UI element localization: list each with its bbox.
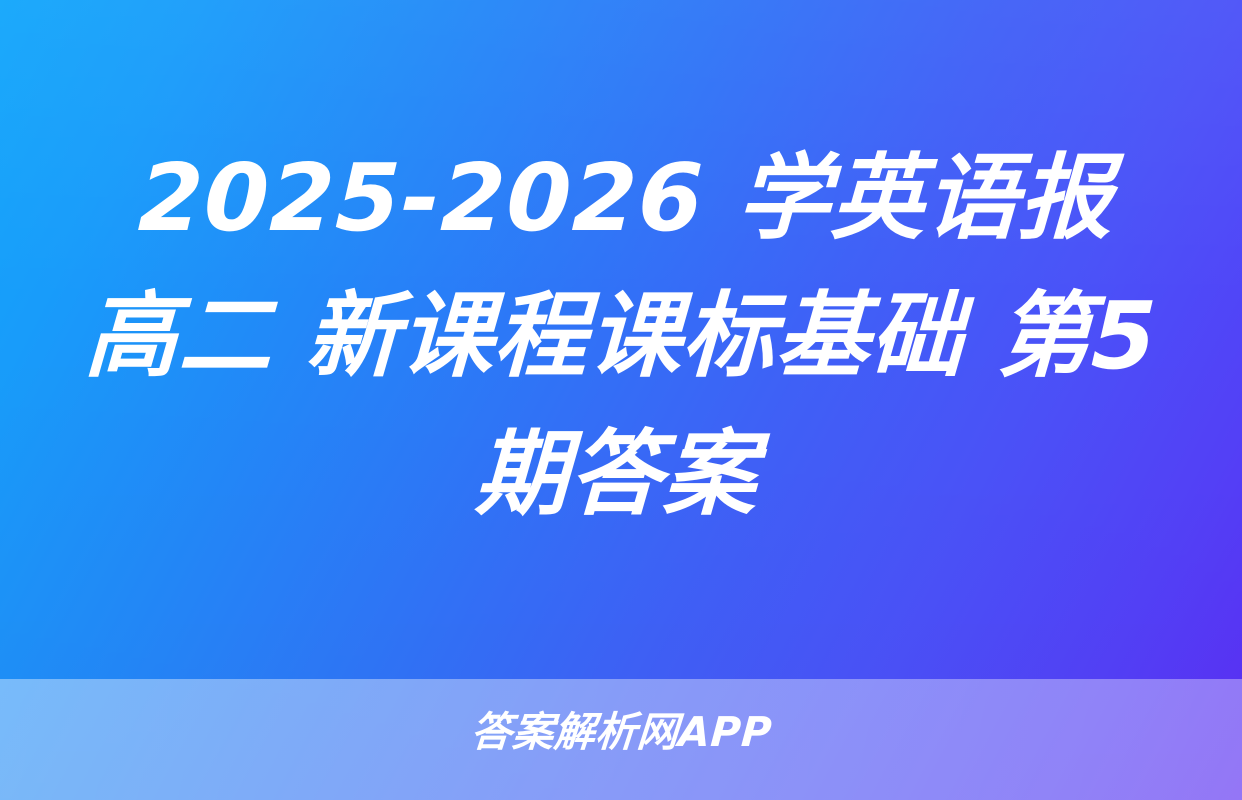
title-area: 2025-2026 学英语报 高二 新课程课标基础 第5期答案 [0, 0, 1242, 679]
answer-cover-card: 2025-2026 学英语报 高二 新课程课标基础 第5期答案 答案解析网APP [0, 0, 1242, 800]
brand-name-label: 答案解析网APP [469, 712, 773, 753]
page-title: 2025-2026 学英语报 高二 新课程课标基础 第5期答案 [67, 129, 1175, 543]
footer-brand-bar: 答案解析网APP [0, 679, 1242, 800]
